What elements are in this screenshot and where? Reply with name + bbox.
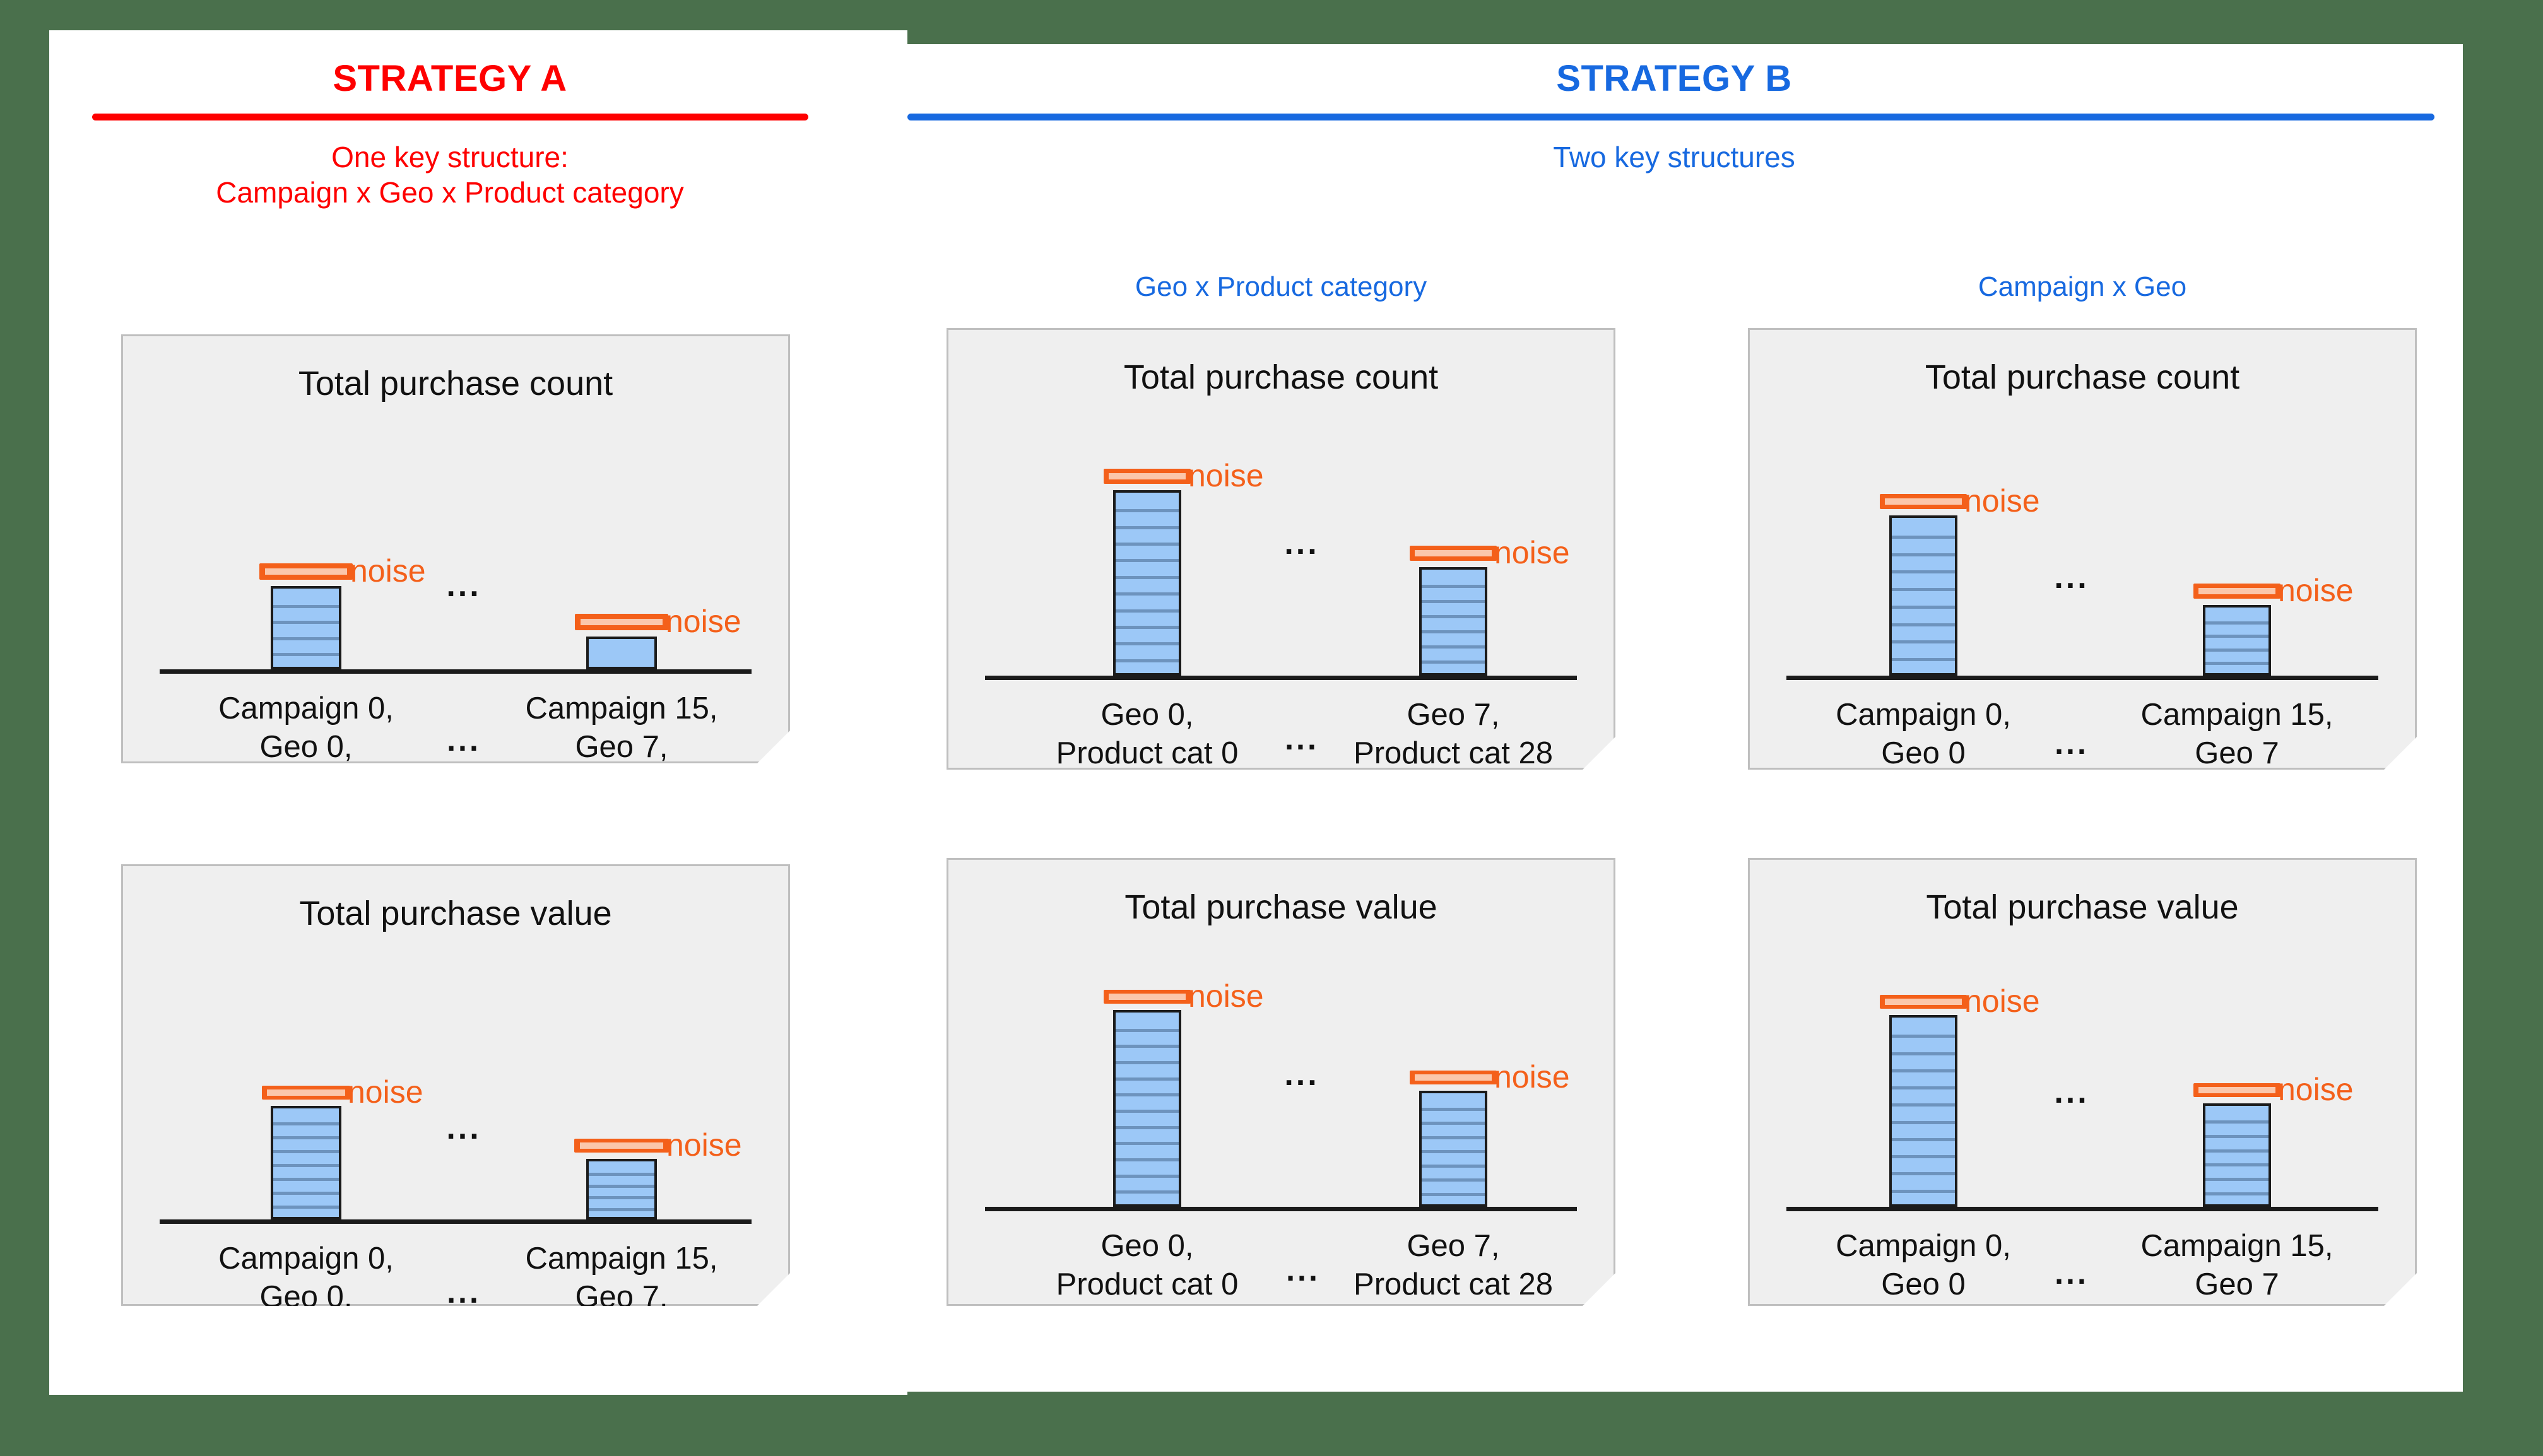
signal-bar xyxy=(1419,567,1487,676)
bar-group: noise xyxy=(1022,469,1273,676)
substructure-label-geo-x-product: Geo x Product category xyxy=(928,271,1634,303)
strategy-a-rule xyxy=(92,114,808,120)
noise-bar-inner xyxy=(1415,550,1491,556)
noise-label: noise xyxy=(1188,460,1264,491)
axis-line xyxy=(985,1207,1577,1211)
axis-line xyxy=(985,676,1577,680)
axis-line xyxy=(1786,1207,2378,1211)
noise-label: noise xyxy=(2278,1074,2354,1105)
noise-label: noise xyxy=(2278,575,2354,606)
signal-bar xyxy=(2203,1103,2271,1207)
strategy-a-subtitle: One key structure: Campaign x Geo x Prod… xyxy=(49,139,851,210)
strategy-a-header: STRATEGY A One key structure: Campaign x… xyxy=(49,61,851,210)
chart-card: Total purchase count...noiseCampaign 0, … xyxy=(121,334,790,763)
bars-ellipsis: ... xyxy=(1284,1058,1319,1091)
noise-bar xyxy=(1880,995,1967,1009)
tick-ellipsis: ... xyxy=(447,724,481,756)
tick-ellipsis: ... xyxy=(2055,1257,2089,1289)
strategy-b-header: STRATEGY B Two key structures xyxy=(907,61,2441,175)
bar-stripes xyxy=(1422,570,1485,673)
strategy-b-rule xyxy=(907,114,2434,120)
tick-ellipsis: ... xyxy=(447,1276,481,1308)
strategy-b-subtitle: Two key structures xyxy=(907,139,2441,175)
bar-stripes xyxy=(2205,1106,2269,1204)
bar-group: noise xyxy=(1328,1071,1579,1207)
card-title: Total purchase value xyxy=(1750,888,2415,927)
noise-bar-inner xyxy=(1109,473,1185,479)
bar-stripes xyxy=(2205,608,2269,673)
noise-label: noise xyxy=(348,1076,423,1108)
signal-bar xyxy=(2203,605,2271,676)
noise-bar-inner xyxy=(2198,588,2275,594)
bar-group: noise xyxy=(2111,1083,2363,1207)
bar-group: noise xyxy=(180,1086,432,1219)
bar-group: noise xyxy=(1798,995,2049,1207)
noise-label: noise xyxy=(1964,985,2040,1017)
substructure-label-campaign-x-geo: Campaign x Geo xyxy=(1729,271,2436,303)
noise-bar-inner xyxy=(580,1142,663,1148)
tick-ellipsis: ... xyxy=(1286,1254,1320,1286)
bar-stripes xyxy=(1892,1018,1955,1204)
noise-bar-inner xyxy=(2198,1087,2275,1093)
noise-label: noise xyxy=(350,555,426,587)
bars-ellipsis: ... xyxy=(446,1112,481,1144)
noise-bar xyxy=(2193,1083,2280,1097)
bar-group: noise xyxy=(1022,990,1273,1207)
noise-bar-inner xyxy=(1109,994,1185,999)
noise-bar xyxy=(259,563,353,580)
tick-label: Campaign 0, Geo 0 xyxy=(1785,696,2062,773)
noise-bar-inner xyxy=(1885,498,1961,505)
bar-stripes xyxy=(273,1108,339,1217)
tick-label: Campaign 15, Geo 7 xyxy=(2098,1227,2376,1305)
bar-group: noise xyxy=(493,614,750,669)
noise-bar xyxy=(2193,584,2280,599)
chart-card: Total purchase value...noiseCampaign 0, … xyxy=(121,864,790,1306)
noise-bar xyxy=(1104,469,1191,484)
axis-line xyxy=(160,1219,752,1224)
noise-bar-inner xyxy=(1885,999,1961,1004)
tick-label: Geo 7, Product cat 28 xyxy=(1314,1227,1592,1305)
noise-bar-inner xyxy=(265,568,347,575)
noise-bar-inner xyxy=(1415,1074,1491,1080)
bar-group: noise xyxy=(177,563,435,669)
tick-label: Geo 0, Product cat 0 xyxy=(1008,696,1286,773)
axis-line xyxy=(1786,676,2378,680)
bar-group: noise xyxy=(1328,546,1579,676)
noise-bar xyxy=(262,1086,350,1100)
noise-label: noise xyxy=(1964,485,2040,517)
signal-bar xyxy=(1889,1015,1957,1207)
tick-label: Campaign 15, Geo 7 xyxy=(2098,696,2376,773)
signal-bar xyxy=(586,1159,657,1219)
bar-group: noise xyxy=(1798,494,2049,676)
signal-bar xyxy=(1419,1091,1487,1207)
bar-stripes xyxy=(589,639,654,667)
bar-stripes xyxy=(1116,493,1179,673)
signal-bar xyxy=(271,1106,341,1219)
signal-bar xyxy=(1113,490,1181,676)
noise-label: noise xyxy=(666,606,741,637)
bar-stripes xyxy=(589,1161,654,1217)
noise-bar xyxy=(1410,546,1497,561)
bar-group: noise xyxy=(492,1139,751,1219)
tick-ellipsis: ... xyxy=(1285,723,1319,754)
noise-bar-inner xyxy=(581,619,663,626)
noise-bar xyxy=(575,614,668,630)
bars-ellipsis: ... xyxy=(446,569,481,602)
bars-ellipsis: ... xyxy=(1284,527,1319,560)
noise-bar xyxy=(1880,494,1967,509)
card-title: Total purchase value xyxy=(123,894,788,933)
noise-label: noise xyxy=(666,1129,742,1161)
signal-bar xyxy=(1889,515,1957,676)
chart-card: Total purchase count...noiseCampaign 0, … xyxy=(1748,328,2417,770)
chart-card: Total purchase value...noiseGeo 0, Produ… xyxy=(947,858,1615,1306)
tick-label: Geo 7, Product cat 28 xyxy=(1314,696,1592,773)
axis-line xyxy=(160,669,752,674)
chart-card: Total purchase value...noiseCampaign 0, … xyxy=(1748,858,2417,1306)
signal-bar xyxy=(586,637,657,669)
tick-ellipsis: ... xyxy=(2055,727,2089,759)
bars-ellipsis: ... xyxy=(2054,561,2089,594)
noise-bar-inner xyxy=(267,1089,345,1095)
bar-stripes xyxy=(1892,518,1955,673)
bar-stripes xyxy=(273,589,339,667)
noise-bar xyxy=(574,1139,669,1153)
noise-label: noise xyxy=(1188,980,1264,1012)
card-title: Total purchase count xyxy=(1750,358,2415,397)
card-title: Total purchase count xyxy=(948,358,1614,397)
bar-stripes xyxy=(1422,1093,1485,1204)
bar-stripes xyxy=(1116,1013,1179,1204)
signal-bar xyxy=(271,586,341,669)
card-title: Total purchase count xyxy=(123,364,788,403)
chart-card: Total purchase count...noiseGeo 0, Produ… xyxy=(947,328,1615,770)
noise-label: noise xyxy=(1494,1061,1570,1093)
bar-group: noise xyxy=(2111,584,2363,676)
card-title: Total purchase value xyxy=(948,888,1614,927)
tick-label: Geo 0, Product cat 0 xyxy=(1008,1227,1286,1305)
strategy-b-title: STRATEGY B xyxy=(907,61,2441,97)
signal-bar xyxy=(1113,1010,1181,1207)
noise-bar xyxy=(1410,1071,1497,1084)
noise-label: noise xyxy=(1494,537,1570,568)
tick-label: Campaign 0, Geo 0 xyxy=(1785,1227,2062,1305)
bars-ellipsis: ... xyxy=(2054,1076,2089,1108)
strategy-a-title: STRATEGY A xyxy=(49,61,851,97)
noise-bar xyxy=(1104,990,1191,1004)
